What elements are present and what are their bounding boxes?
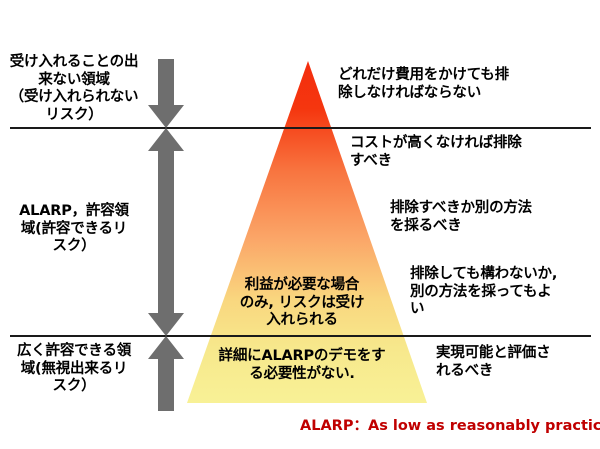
- arrow-double-alarp: [146, 127, 186, 337]
- triangle-text-no-demo-needed: 詳細にALARPのデモをす る必要性がない.: [196, 348, 408, 383]
- down-arrow-icon: [146, 59, 186, 129]
- up-arrow-icon: [146, 335, 186, 411]
- zone-label-unacceptable-line-3: （受け入れられない: [0, 89, 148, 107]
- zone-label-alarp: ALARP，許容領 域(許容できるリ スク）: [0, 203, 148, 256]
- zone-label-alarp-line-2: 域(許容できるリ: [0, 221, 148, 239]
- annotation-eliminate-or-alternative-line-2: を採るべき: [390, 218, 600, 236]
- arrow-up-broadly-acceptable: [146, 335, 186, 411]
- triangle-text-no-demo-line-1: 詳細にALARPのデモをす: [196, 348, 408, 366]
- annotation-should-be-feasible-line-2: れるべき: [436, 363, 600, 381]
- zone-label-broadly-acceptable: 広く許容できる領 域(無視出来るリ スク）: [0, 343, 148, 396]
- annotation-eliminate-if-not-costly: コストが高くなければ排除 すべき: [350, 135, 598, 170]
- zone-label-alarp-line-3: スク）: [0, 238, 148, 256]
- annotation-may-eliminate-line-3: い: [410, 301, 600, 319]
- triangle-text-benefit-line-2: のみ, リスクは受け: [214, 295, 390, 313]
- divider-line-upper: [10, 127, 591, 129]
- double-headed-arrow-icon: [146, 127, 186, 337]
- zone-label-unacceptable-line-4: リスク）: [0, 107, 148, 125]
- arrow-down-unacceptable: [146, 59, 186, 129]
- annotation-should-be-feasible-line-1: 実現可能と評価さ: [436, 345, 600, 363]
- zone-label-broadly-line-3: スク）: [0, 378, 148, 396]
- annotation-must-eliminate-line-1: どれだけ費用をかけても排: [338, 67, 596, 85]
- annotation-should-be-feasible: 実現可能と評価さ れるべき: [436, 345, 600, 380]
- triangle-text-benefit-line-3: 入れられる: [214, 312, 390, 330]
- triangle-text-benefit-line-1: 利益が必要な場合: [214, 277, 390, 295]
- zone-label-unacceptable: 受け入れることの出 来ない領域 （受け入れられない リスク）: [0, 54, 148, 125]
- annotation-eliminate-or-alternative-line-1: 排除すべきか別の方法: [390, 200, 600, 218]
- triangle-text-benefit-required: 利益が必要な場合 のみ, リスクは受け 入れられる: [214, 277, 390, 330]
- zone-label-alarp-line-1: ALARP，許容領: [0, 203, 148, 221]
- zone-label-broadly-line-2: 域(無視出来るリ: [0, 361, 148, 379]
- annotation-may-eliminate-line-1: 排除しても構わないか,: [410, 266, 600, 284]
- divider-line-lower: [10, 335, 591, 337]
- annotation-eliminate-if-not-costly-line-1: コストが高くなければ排除: [350, 135, 598, 153]
- annotation-must-eliminate: どれだけ費用をかけても排 除しなければならない: [338, 67, 596, 102]
- annotation-eliminate-or-alternative: 排除すべきか別の方法 を採るべき: [390, 200, 600, 235]
- triangle-text-no-demo-line-2: る必要性がない.: [196, 366, 408, 384]
- alarp-risk-triangle-figure: 受け入れることの出 来ない領域 （受け入れられない リスク） ALARP，許容領…: [0, 0, 600, 449]
- alarp-acronym-footnote: ALARP：As low as reasonably practicable.: [300, 414, 600, 435]
- annotation-may-eliminate-or-alternative: 排除しても構わないか, 別の方法を採ってもよ い: [410, 266, 600, 319]
- annotation-eliminate-if-not-costly-line-2: すべき: [350, 153, 598, 171]
- zone-label-unacceptable-line-1: 受け入れることの出: [0, 54, 148, 72]
- zone-label-unacceptable-line-2: 来ない領域: [0, 72, 148, 90]
- annotation-must-eliminate-line-2: 除しなければならない: [338, 85, 596, 103]
- zone-label-broadly-line-1: 広く許容できる領: [0, 343, 148, 361]
- annotation-may-eliminate-line-2: 別の方法を採ってもよ: [410, 284, 600, 302]
